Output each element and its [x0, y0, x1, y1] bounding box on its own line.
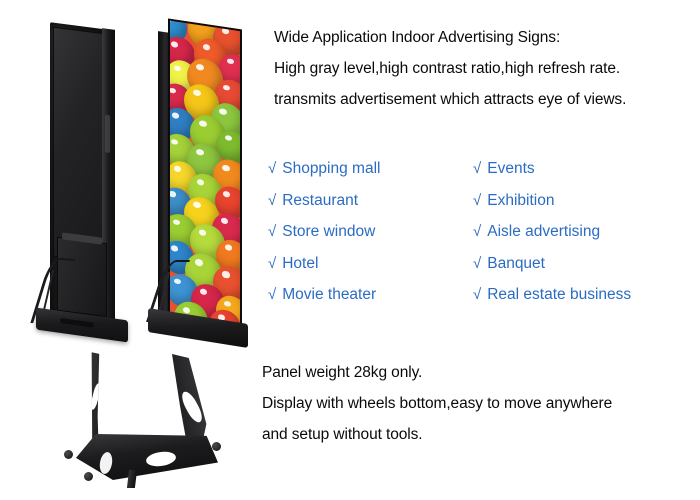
feature-label: Real estate business	[487, 286, 631, 304]
feature-column-right: √ Events √ Exhibition √ Aisle advertisin…	[473, 160, 688, 318]
feature-item-real-estate-business: √ Real estate business	[473, 286, 688, 318]
headline-line-1: Wide Application Indoor Advertising Sign…	[274, 22, 700, 53]
check-icon: √	[473, 193, 481, 208]
feature-item-aisle-advertising: √ Aisle advertising	[473, 223, 688, 255]
feature-label: Movie theater	[282, 286, 376, 304]
feature-label: Hotel	[282, 255, 318, 273]
feature-item-shopping-mall: √ Shopping mall	[268, 160, 473, 192]
feature-label: Aisle advertising	[487, 223, 600, 241]
feature-label: Restaurant	[282, 192, 358, 210]
check-icon: √	[473, 161, 481, 176]
feature-item-banquet: √ Banquet	[473, 255, 688, 287]
check-icon: √	[268, 287, 276, 302]
feature-label: Shopping mall	[282, 160, 380, 178]
feature-item-restaurant: √ Restaurant	[268, 192, 473, 224]
feature-label: Banquet	[487, 255, 545, 273]
stand-base-closeup-image	[62, 352, 240, 488]
headline-block: Wide Application Indoor Advertising Sign…	[274, 22, 700, 115]
footer-line-3: and setup without tools.	[262, 419, 698, 450]
feature-label: Store window	[282, 223, 375, 241]
feature-item-exhibition: √ Exhibition	[473, 192, 688, 224]
feature-item-events: √ Events	[473, 160, 688, 192]
feature-item-store-window: √ Store window	[268, 223, 473, 255]
headline-line-3: transmits advertisement which attracts e…	[274, 84, 700, 115]
footer-line-2: Display with wheels bottom,easy to move …	[262, 388, 698, 419]
footer-block: Panel weight 28kg only. Display with whe…	[262, 357, 698, 450]
caster-wheel-front-left	[64, 450, 73, 459]
headline-line-2: High gray level,high contrast ratio,high…	[274, 53, 700, 84]
feature-label: Events	[487, 160, 534, 178]
check-icon: √	[473, 224, 481, 239]
feature-item-movie-theater: √ Movie theater	[268, 286, 473, 318]
application-feature-list: √ Shopping mall √ Restaurant √ Store win…	[268, 160, 700, 318]
check-icon: √	[268, 161, 276, 176]
product-image-column	[0, 0, 258, 500]
led-poster-rear-view-image	[36, 26, 124, 344]
check-icon: √	[268, 193, 276, 208]
caster-wheel-rear-left	[84, 472, 93, 481]
check-icon: √	[268, 224, 276, 239]
check-icon: √	[268, 256, 276, 271]
caster-wheel-front-right	[212, 442, 221, 451]
feature-label: Exhibition	[487, 192, 554, 210]
product-feature-graphic: Wide Application Indoor Advertising Sign…	[0, 0, 700, 500]
marketing-copy-column: Wide Application Indoor Advertising Sign…	[258, 0, 700, 500]
check-icon: √	[473, 287, 481, 302]
led-poster-front-view-image	[148, 24, 252, 346]
stand-center-post	[127, 470, 137, 488]
check-icon: √	[473, 256, 481, 271]
feature-column-left: √ Shopping mall √ Restaurant √ Store win…	[268, 160, 473, 318]
footer-line-1: Panel weight 28kg only.	[262, 357, 698, 388]
feature-item-hotel: √ Hotel	[268, 255, 473, 287]
